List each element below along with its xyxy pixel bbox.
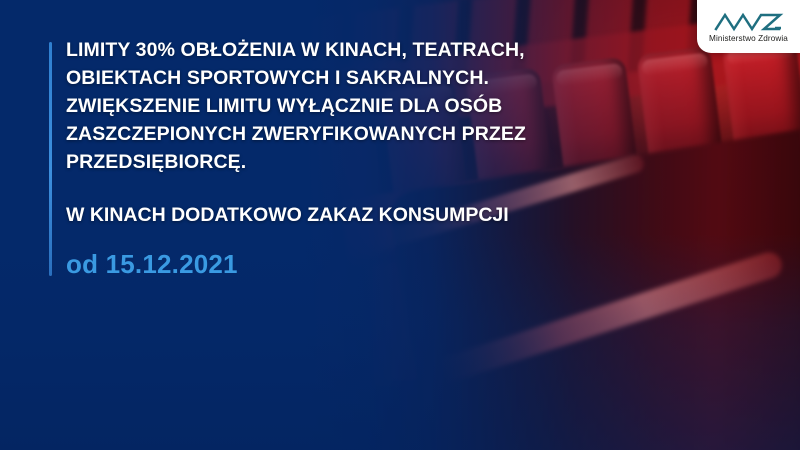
copy-block: LIMITY 30% OBŁOŻENIA W KINACH, TEATRACH,… <box>66 36 626 279</box>
effective-date: od 15.12.2021 <box>66 249 626 279</box>
headline: LIMITY 30% OBŁOŻENIA W KINACH, TEATRACH,… <box>66 36 626 176</box>
poster-root: LIMITY 30% OBŁOŻENIA W KINACH, TEATRACH,… <box>0 0 800 450</box>
headline-line-5: PRZEDSIĘBIORCĘ. <box>66 148 626 176</box>
headline-line-3: ZWIĘKSZENIE LIMITU WYŁĄCZNIE DLA OSÓB <box>66 92 626 120</box>
headline-line-2: OBIEKTACH SPORTOWYCH I SAKRALNYCH. <box>66 64 626 92</box>
accent-bar <box>49 42 52 276</box>
ministry-logo: Ministerstwo Zdrowia <box>697 0 800 53</box>
subheadline: W KINACH DODATKOWO ZAKAZ KONSUMPCJI <box>66 201 626 229</box>
mz-zigzag-logo-icon <box>714 11 784 33</box>
ministry-logo-caption: Ministerstwo Zdrowia <box>709 34 788 43</box>
headline-line-1: LIMITY 30% OBŁOŻENIA W KINACH, TEATRACH, <box>66 36 626 64</box>
headline-line-4: ZASZCZEPIONYCH ZWERYFIKOWANYCH PRZEZ <box>66 120 626 148</box>
